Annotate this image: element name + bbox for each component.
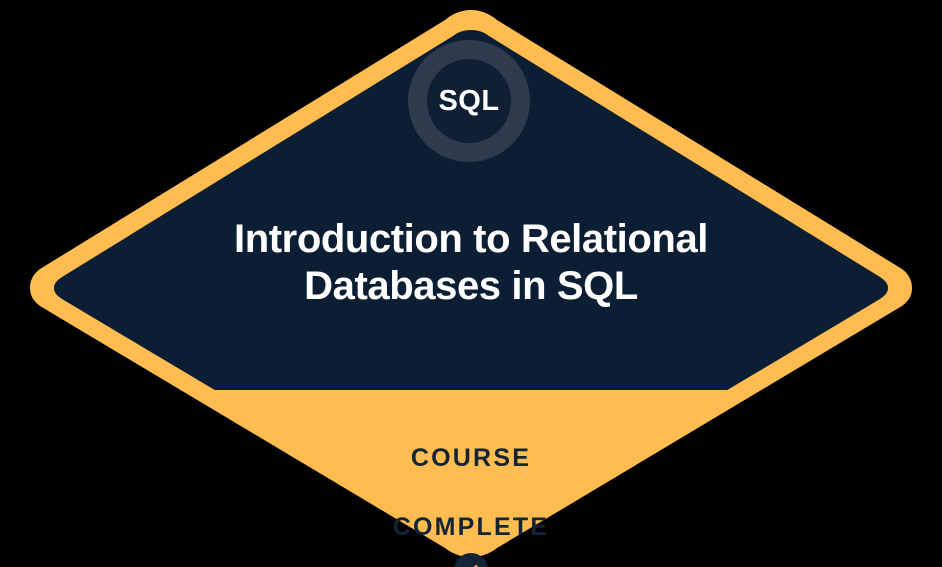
completion-status-text: COURSE COMPLETE bbox=[271, 406, 671, 544]
sql-disc-inner: SQL bbox=[427, 59, 511, 143]
technology-label: SQL bbox=[438, 87, 499, 116]
completion-status-line-1: COURSE bbox=[411, 444, 531, 472]
sql-disc-icon: SQL bbox=[408, 40, 530, 162]
completion-status-line-2: COMPLETE bbox=[393, 513, 550, 541]
completion-block: COURSE COMPLETE bbox=[271, 406, 671, 567]
course-title-line-2: Databases in SQL bbox=[110, 263, 832, 310]
course-completion-badge: SQL Introduction to Relational Databases… bbox=[0, 0, 942, 567]
course-title: Introduction to Relational Databases in … bbox=[110, 216, 832, 310]
check-circle-icon bbox=[454, 553, 488, 567]
course-title-line-1: Introduction to Relational bbox=[110, 216, 832, 263]
